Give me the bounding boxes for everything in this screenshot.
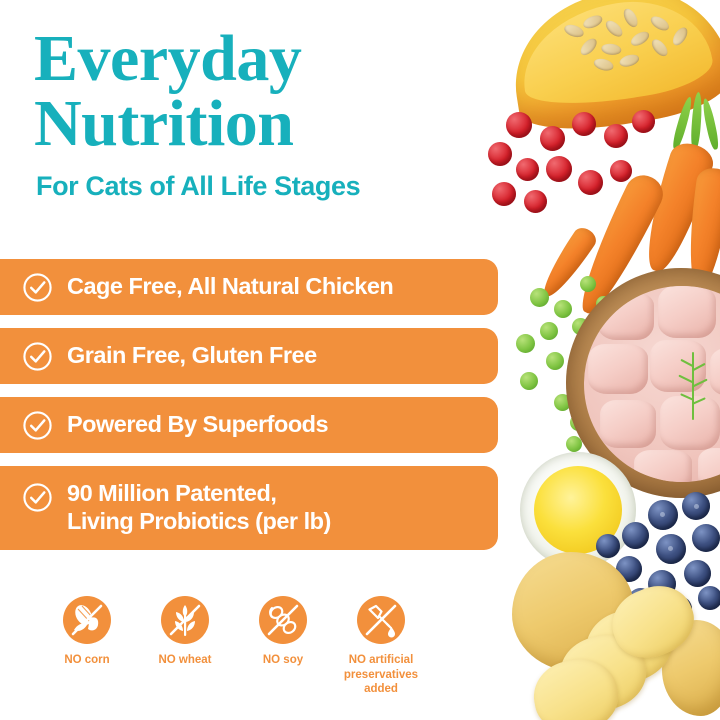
badge-no-soy[interactable]: NO soy xyxy=(234,596,332,668)
check-circle-icon xyxy=(22,410,53,441)
pumpkin-seeds-group xyxy=(556,0,714,83)
check-circle-icon xyxy=(22,272,53,303)
feature-label: Powered By Superfoods xyxy=(67,411,328,439)
feature-label: Cage Free, All Natural Chicken xyxy=(67,273,393,301)
feature-bar-grain-free[interactable]: Grain Free, Gluten Free xyxy=(0,328,498,384)
feature-bar-probiotics[interactable]: 90 Million Patented, Living Probiotics (… xyxy=(0,466,498,550)
check-circle-icon xyxy=(22,482,53,513)
headline-block: EverydayNutrition For Cats of All Life S… xyxy=(34,26,464,202)
feature-label: 90 Million Patented, Living Probiotics (… xyxy=(67,480,331,535)
badge-label: NO wheat xyxy=(136,653,234,668)
pumpkin-slice-image xyxy=(503,0,720,140)
no-wheat-icon xyxy=(161,596,209,644)
dill-sprig xyxy=(672,352,716,422)
feature-list: Cage Free, All Natural Chicken Grain Fre… xyxy=(0,259,498,563)
feature-bar-superfoods[interactable]: Powered By Superfoods xyxy=(0,397,498,453)
oil-bowl xyxy=(520,452,636,568)
no-corn-icon xyxy=(63,596,111,644)
wooden-bowl xyxy=(566,268,720,498)
no-soy-icon xyxy=(259,596,307,644)
no-ingredient-badges: NO corn NO wheat xyxy=(38,596,438,697)
title-line-1: Everyday xyxy=(34,22,301,95)
feature-bar-cage-free[interactable]: Cage Free, All Natural Chicken xyxy=(0,259,498,315)
badge-label: NO corn xyxy=(38,653,136,668)
badge-no-artificial-preservatives[interactable]: NO artificial preservatives added xyxy=(332,596,430,697)
product-feature-panel: EverydayNutrition For Cats of All Life S… xyxy=(0,0,720,720)
page-subtitle: For Cats of All Life Stages xyxy=(36,171,464,202)
check-circle-icon xyxy=(22,341,53,372)
badge-no-wheat[interactable]: NO wheat xyxy=(136,596,234,668)
badge-label: NO artificial preservatives added xyxy=(332,653,430,697)
oil-liquid xyxy=(534,466,622,554)
title-line-2: Nutrition xyxy=(34,87,294,160)
pumpkin-flesh xyxy=(514,0,717,114)
raw-chicken-pieces xyxy=(584,286,720,482)
badge-no-corn[interactable]: NO corn xyxy=(38,596,136,668)
page-title: EverydayNutrition xyxy=(34,26,464,157)
feature-label: Grain Free, Gluten Free xyxy=(67,342,317,370)
no-preservatives-icon xyxy=(357,596,405,644)
badge-label: NO soy xyxy=(234,653,332,668)
